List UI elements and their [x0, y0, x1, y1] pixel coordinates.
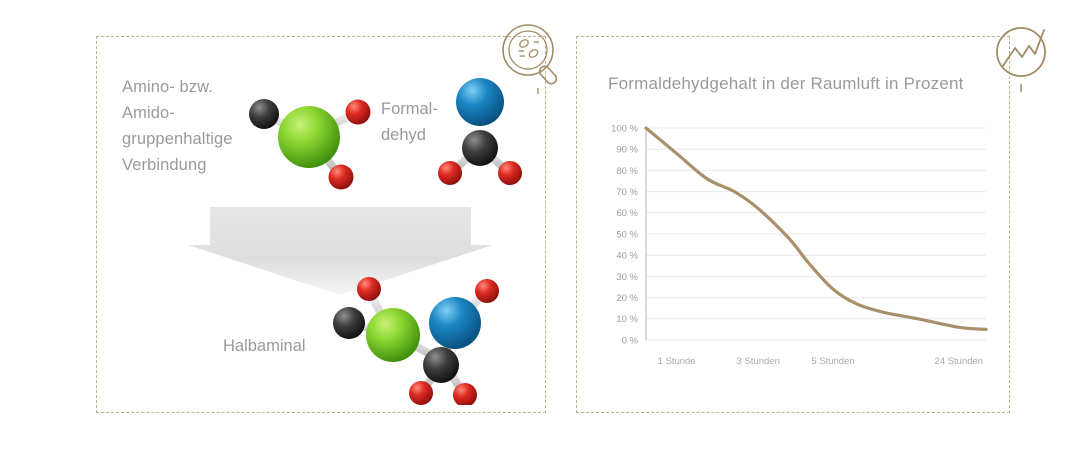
formaldehyde-line-2: dehyd	[381, 122, 438, 148]
y-axis-tick-label: 40 %	[616, 251, 638, 262]
y-axis-tick-label: 0 %	[622, 335, 639, 346]
series-line	[646, 128, 986, 329]
y-axis-tick-label: 50 %	[616, 229, 638, 240]
trend-chart-circle-icon	[988, 20, 1062, 94]
x-axis-tick-label: 5 Stunden	[811, 356, 854, 367]
y-axis-tick-label: 70 %	[616, 187, 638, 198]
molecule-halbaminal	[327, 275, 503, 405]
formaldehyde-label: Formal- dehyd	[381, 96, 438, 148]
x-axis-tick-label: 24 Stunden	[934, 356, 983, 367]
x-axis-tick-label: 1 Stunde	[658, 356, 696, 367]
y-axis-tick-label: 60 %	[616, 208, 638, 219]
molecule-amino-compound	[243, 83, 379, 197]
y-axis-tick-label: 80 %	[616, 166, 638, 177]
y-axis-tick-label: 10 %	[616, 314, 638, 325]
y-axis-tick-label: 20 %	[616, 293, 638, 304]
x-axis-tick-label: 3 Stunden	[737, 356, 780, 367]
chart-svg: 100 %90 %80 %70 %60 %50 %40 %30 %20 %10 …	[600, 120, 996, 382]
line-chart: 100 %90 %80 %70 %60 %50 %40 %30 %20 %10 …	[600, 120, 996, 382]
chart-title: Formaldehydgehalt in der Raumluft in Pro…	[608, 74, 964, 94]
formaldehyde-line-1: Formal-	[381, 96, 438, 122]
molecule-formaldehyde	[432, 68, 528, 188]
y-axis-tick-label: 100 %	[611, 123, 638, 134]
product-label: Halbaminal	[223, 337, 306, 356]
y-axis-tick-label: 30 %	[616, 272, 638, 283]
y-axis-tick-label: 90 %	[616, 145, 638, 156]
